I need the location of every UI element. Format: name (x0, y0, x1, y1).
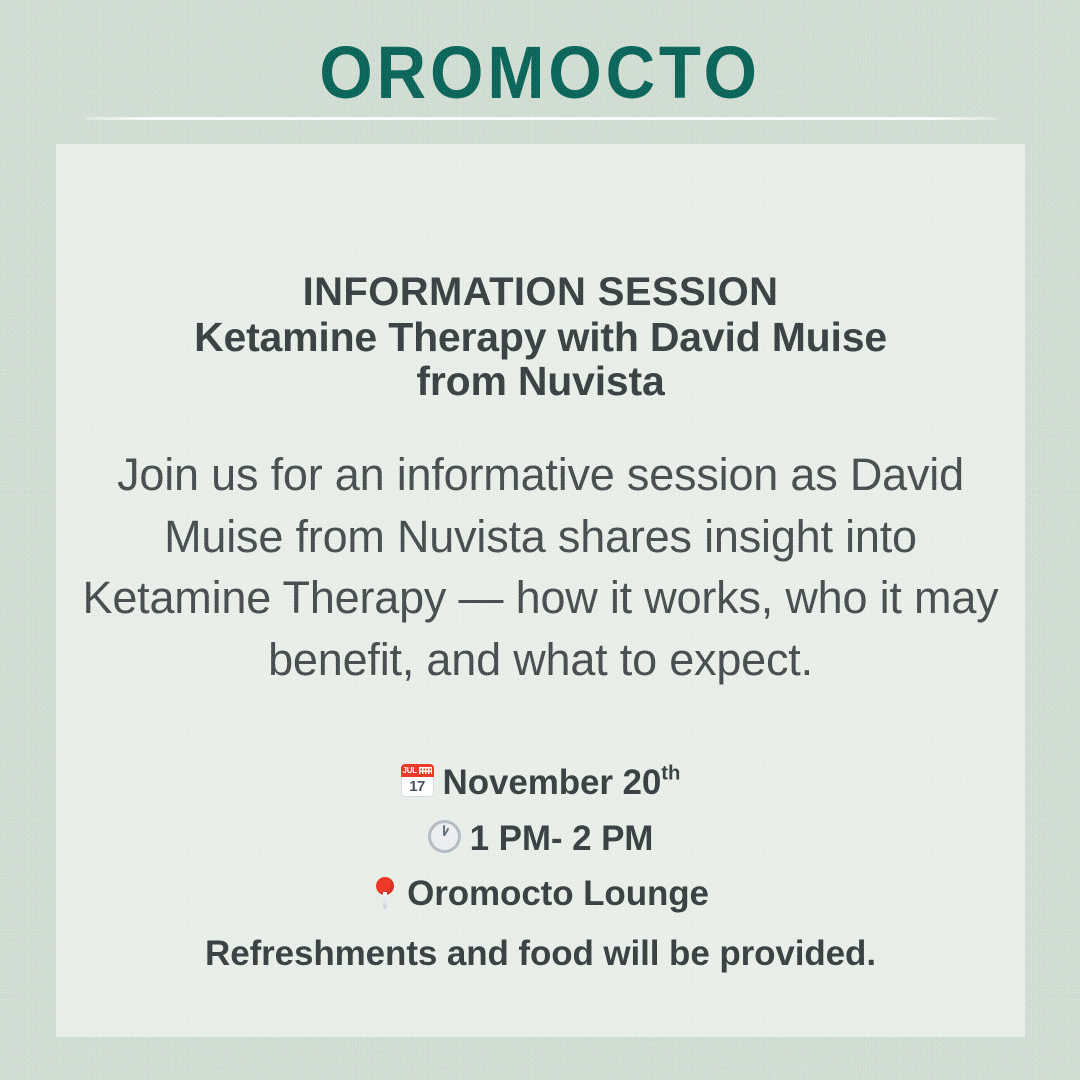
subhead-line-2: from Nuvista (56, 360, 1025, 403)
closing-note: Refreshments and food will be provided. (56, 927, 1025, 981)
calendar-icon-day: 17 (401, 777, 434, 797)
detail-row-date: JUL 17 November 20th (56, 754, 1025, 810)
subhead-line-1: Ketamine Therapy with David Muise (56, 316, 1025, 359)
detail-row-location: Oromocto Lounge (56, 865, 1025, 921)
event-time-text: 1 PM- 2 PM (470, 818, 654, 857)
calendar-icon: JUL 17 (401, 764, 434, 797)
detail-row-time: 1 PM- 2 PM (56, 810, 1025, 866)
calendar-icon-dots (419, 767, 432, 774)
event-date-ordinal: th (661, 762, 680, 784)
flyer-canvas: OROMOCTO INFORMATION SESSION Ketamine Th… (0, 0, 1080, 1080)
headline-block: INFORMATION SESSION Ketamine Therapy wit… (56, 272, 1025, 403)
eyebrow-label: INFORMATION SESSION (56, 272, 1025, 314)
header-divider (86, 117, 996, 120)
event-date-text: November 20 (443, 763, 662, 802)
pin-icon (372, 876, 398, 909)
pin-icon-needle (383, 892, 387, 909)
flyer-content: INFORMATION SESSION Ketamine Therapy wit… (56, 144, 1025, 1037)
description-paragraph: Join us for an informative session as Da… (82, 444, 999, 691)
event-details: JUL 17 November 20th 1 PM- 2 PM Oromocto… (56, 754, 1025, 981)
brand-title: OROMOCTO (38, 36, 1042, 110)
event-location-text: Oromocto Lounge (407, 874, 709, 913)
flyer-header: OROMOCTO (0, 0, 1080, 143)
clock-icon (428, 820, 461, 853)
